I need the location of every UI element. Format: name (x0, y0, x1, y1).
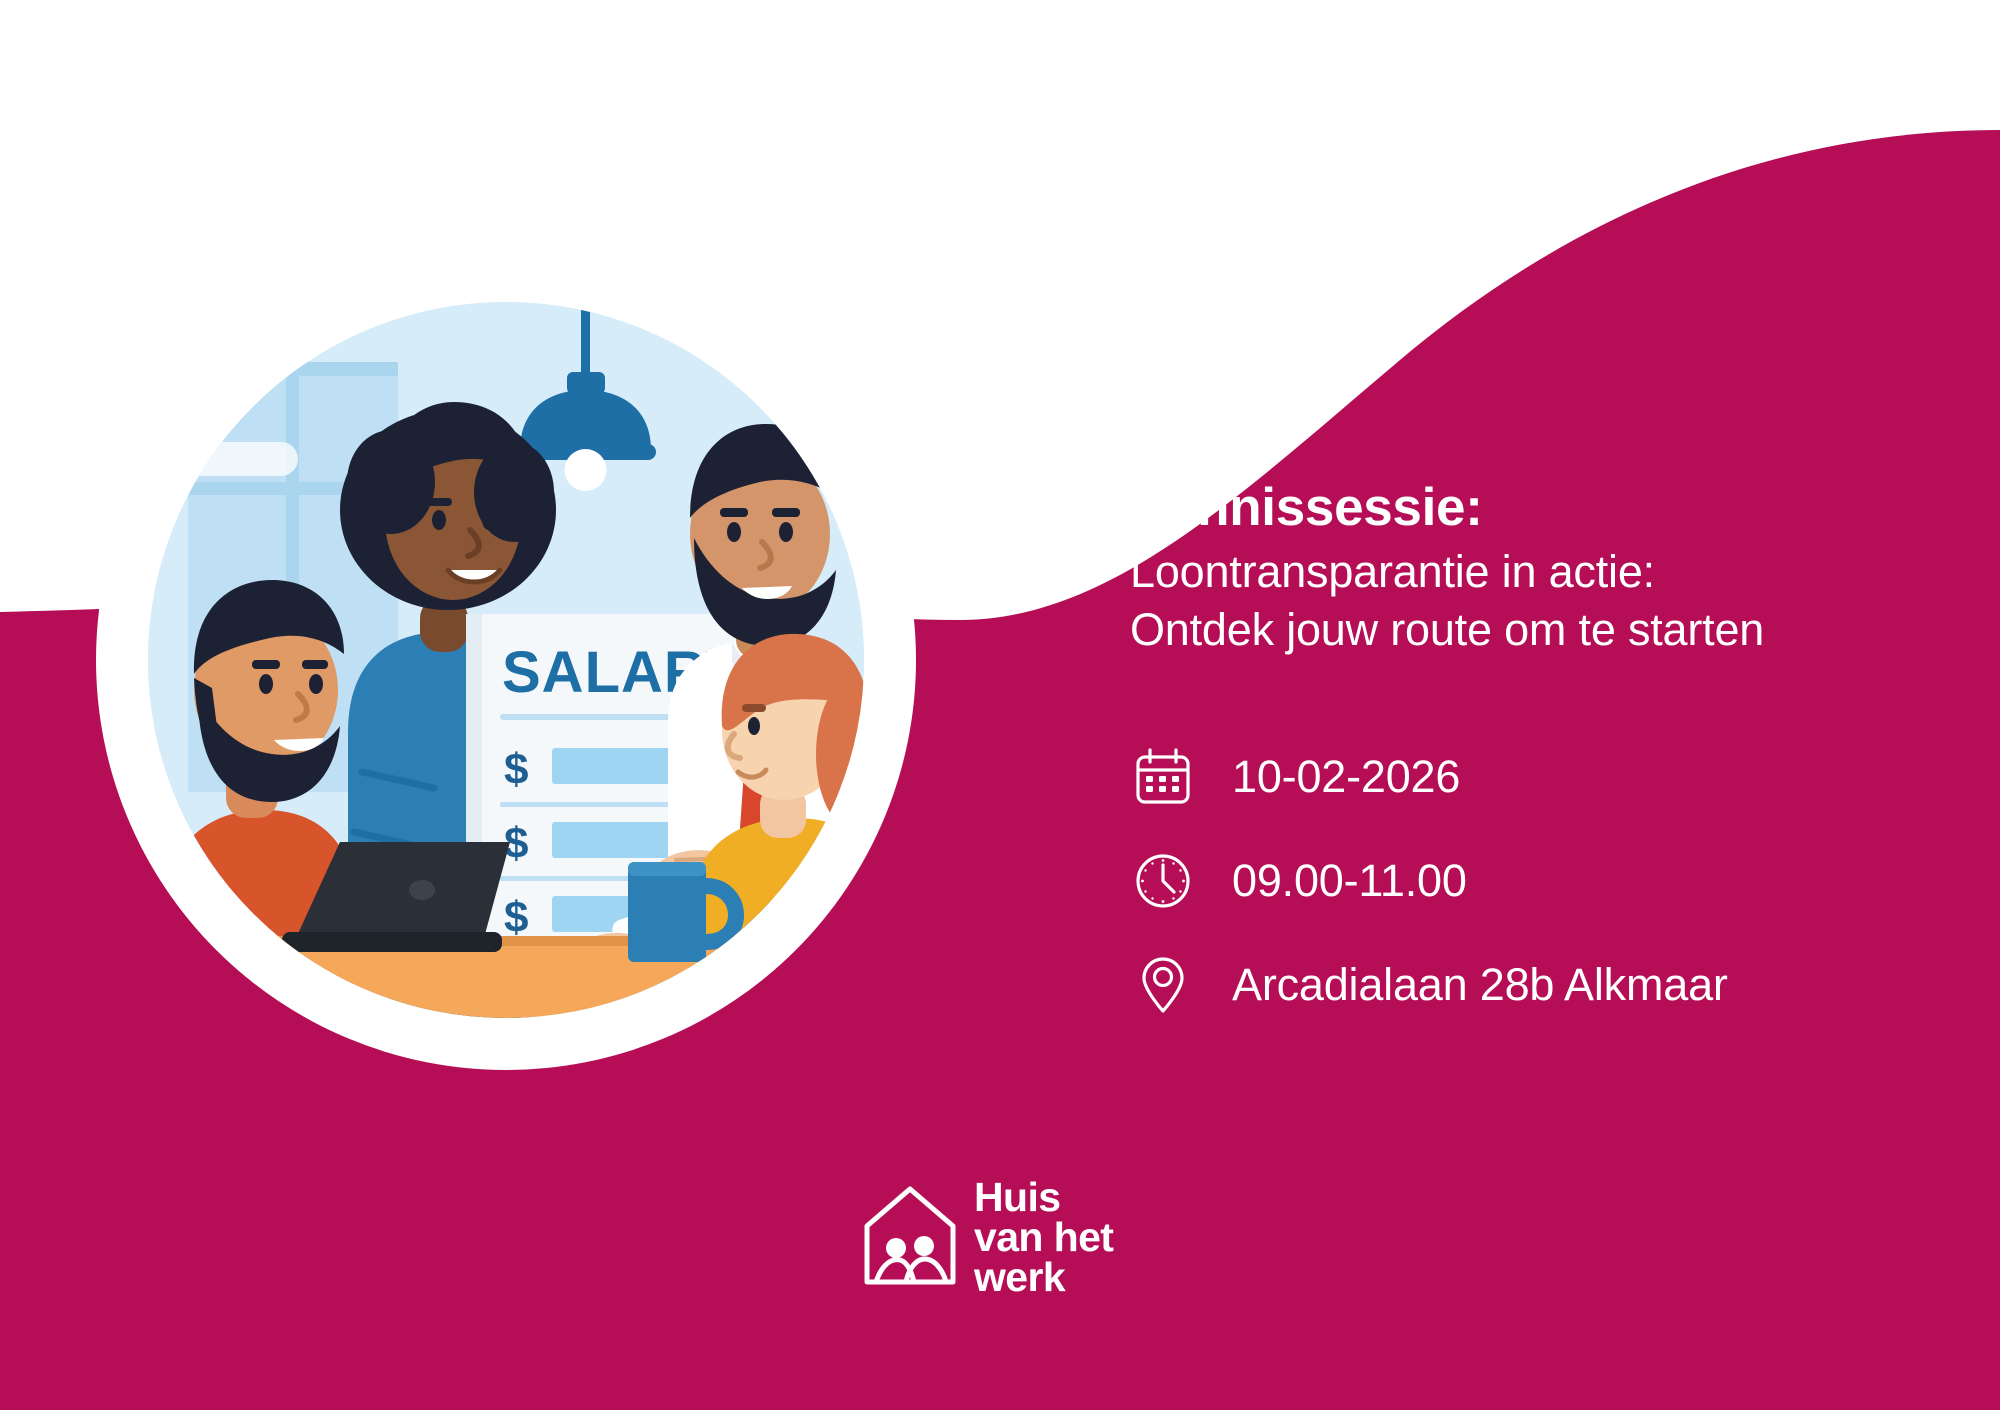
brand-logo: Huis van het werk (862, 1172, 1134, 1302)
illustration-clip: SALARY $ $ $ $ (148, 302, 864, 1018)
subtitle-line-2: Ontdek jouw route om te starten (1130, 601, 1950, 659)
page-title: Kennissessie: (1130, 478, 1950, 537)
salary-transparency-meeting-illustration: SALARY $ $ $ $ (148, 302, 864, 1018)
detail-row-time: 09.00-11.00 (1130, 839, 1950, 923)
house-with-two-people-icon (862, 1182, 958, 1293)
detail-date-label: 10-02-2026 (1232, 754, 1460, 799)
illustration-circle: SALARY $ $ $ $ (96, 250, 916, 1070)
detail-time-label: 09.00-11.00 (1232, 858, 1467, 903)
event-banner: SALARY $ $ $ $ (0, 0, 2000, 1410)
event-details-panel: Kennissessie: Loontransparantie in actie… (1130, 478, 1950, 1047)
svg-text:$: $ (504, 893, 528, 942)
logo-wordmark: Huis van het werk (974, 1177, 1113, 1298)
clock-icon (1130, 848, 1196, 914)
logo-line-3: werk (974, 1257, 1113, 1297)
details-list: 10-02-2026 (1130, 735, 1950, 1027)
detail-row-location: Arcadialaan 28b Alkmaar (1130, 943, 1950, 1027)
svg-text:$: $ (504, 745, 528, 794)
logo-line-1: Huis (974, 1177, 1113, 1217)
subtitle-line-1: Loontransparantie in actie: (1130, 543, 1950, 601)
calendar-icon (1130, 744, 1196, 810)
location-pin-icon (1130, 952, 1196, 1018)
logo-line-2: van het (974, 1217, 1113, 1257)
detail-row-date: 10-02-2026 (1130, 735, 1950, 819)
detail-location-label: Arcadialaan 28b Alkmaar (1232, 962, 1728, 1007)
